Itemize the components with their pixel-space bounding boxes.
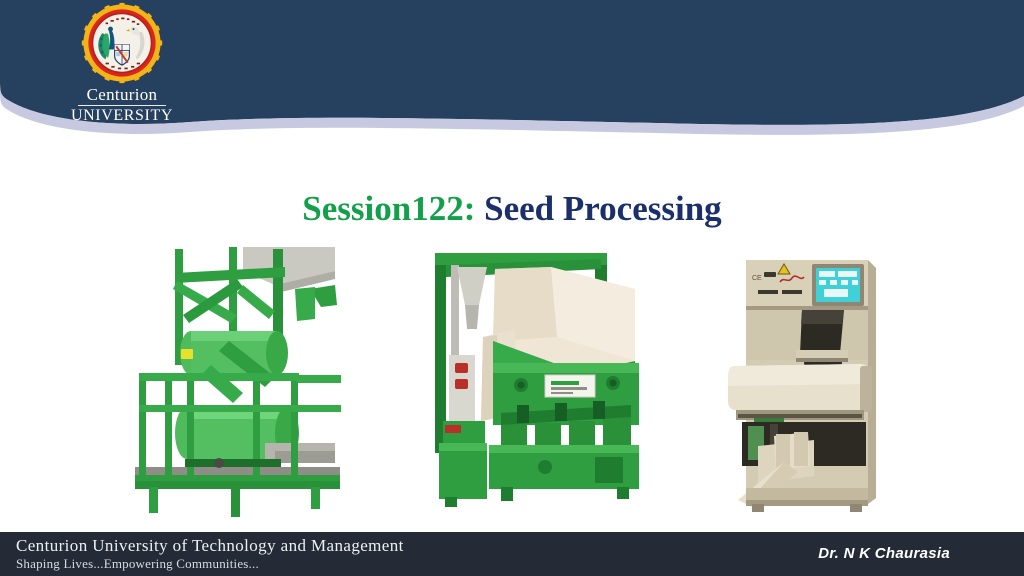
logo-name: Centurion [78, 85, 166, 106]
figure-row: CE [0, 245, 1024, 525]
title-topic: Seed Processing [484, 189, 722, 228]
figure-indented-cylinder-seed-cleaner [125, 245, 350, 520]
slide-header: Centurion UNIVERSITY [0, 0, 1024, 140]
figure-gravity-separator [405, 245, 660, 515]
optical-color-sorter-image: CE [718, 250, 903, 515]
indented-cylinder-seed-cleaner-image [125, 245, 350, 520]
slide-footer: Centurion University of Technology and M… [0, 532, 1024, 576]
figure-optical-color-sorter: CE [718, 250, 903, 515]
logo-subtitle: UNIVERSITY [60, 107, 184, 125]
slide: Centurion UNIVERSITY Session122: Seed Pr… [0, 0, 1024, 576]
svg-text:CE: CE [752, 275, 762, 282]
footer-branding: Centurion University of Technology and M… [16, 536, 404, 571]
footer-author-name: Dr. N K Chaurasia [818, 545, 950, 563]
title-session-label: Session122: [302, 189, 475, 228]
slide-title: Session122: Seed Processing [0, 188, 1024, 230]
gravity-separator-image [405, 245, 660, 515]
footer-university-name: Centurion University of Technology and M… [16, 536, 404, 556]
university-logo: Centurion UNIVERSITY [60, 2, 184, 125]
footer-tagline: Shaping Lives...Empowering Communities..… [16, 556, 404, 571]
centurion-emblem-icon [81, 2, 163, 84]
